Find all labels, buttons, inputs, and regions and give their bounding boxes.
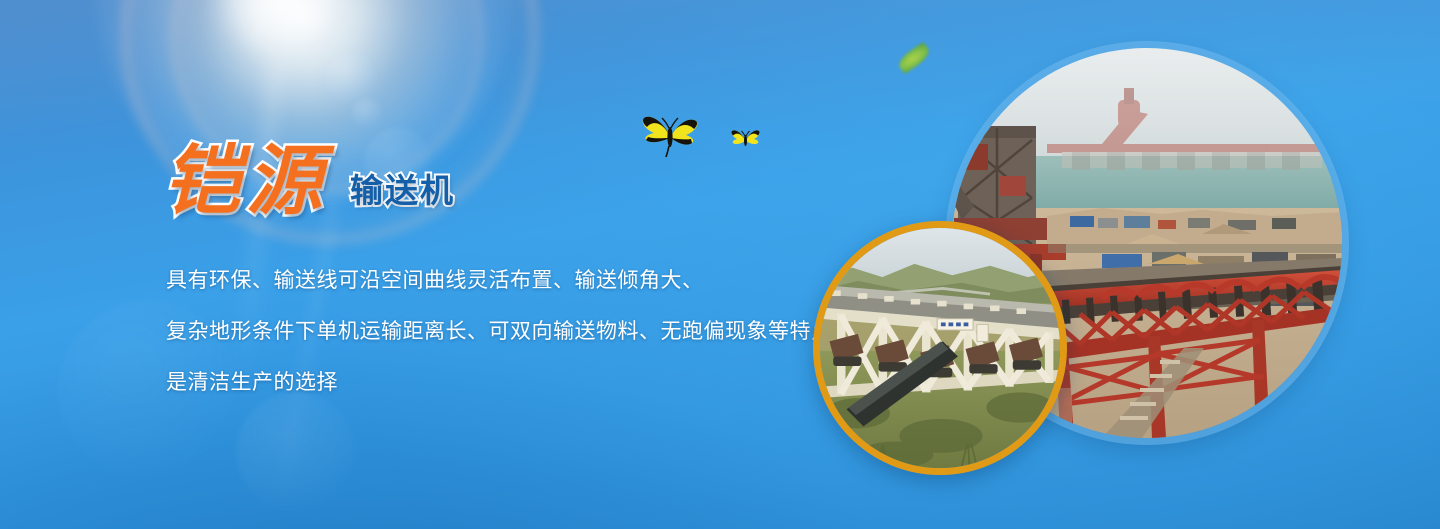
- bokeh-circle-icon: [236, 392, 356, 512]
- butterfly-large-icon: [640, 112, 702, 163]
- butterfly-small-icon: [729, 127, 763, 158]
- bokeh-circle-icon: [352, 98, 382, 128]
- trestle-conveyor-photo: [813, 221, 1067, 475]
- brand-name: 铠源: [164, 143, 328, 219]
- green-leaf-icon: [895, 42, 932, 75]
- bokeh-circle-icon: [325, 52, 377, 104]
- brand-subtitle: 输送机: [350, 174, 455, 207]
- sun-core-icon: [212, 0, 342, 60]
- leaf-body: [895, 42, 932, 75]
- hero-banner: 铠源 输送机 具有环保、输送线可沿空间曲线灵活布置、输送倾角大、 复杂地形条件下…: [0, 0, 1440, 529]
- headline-block: 铠源 输送机: [164, 143, 455, 219]
